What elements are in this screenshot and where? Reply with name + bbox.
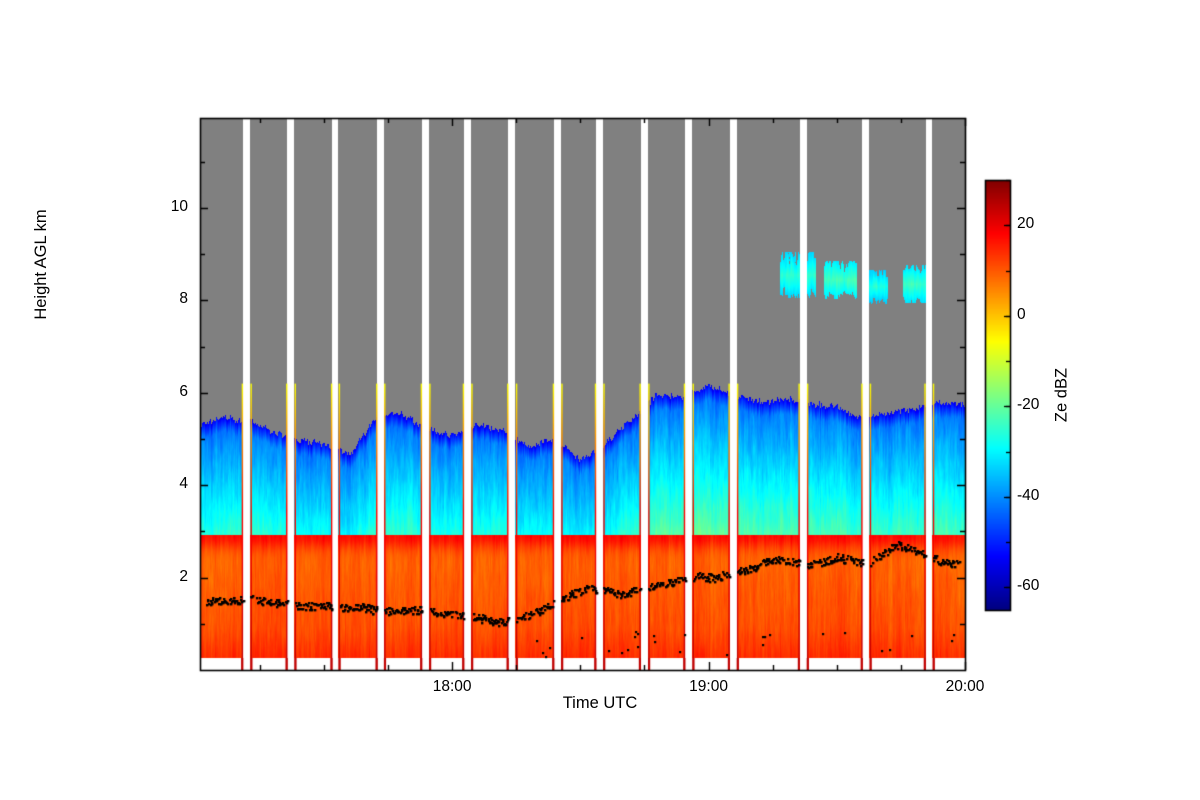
colorbar-tick-label: -40 — [1017, 487, 1067, 505]
x-axis-label: Time UTC — [0, 694, 1200, 713]
y-tick-label: 2 — [138, 568, 188, 586]
colorbar-tick-label: -60 — [1017, 577, 1067, 595]
x-tick-label: 19:00 — [669, 678, 749, 696]
x-tick-label: 20:00 — [925, 678, 1005, 696]
y-tick-label: 8 — [138, 290, 188, 308]
y-tick-label: 4 — [138, 475, 188, 493]
colorbar-tick-label: -20 — [1017, 396, 1067, 414]
colorbar-tick-label: 0 — [1017, 306, 1067, 324]
y-tick-label: 10 — [138, 198, 188, 216]
y-tick-label: 6 — [138, 383, 188, 401]
y-axis-label: Height AGL km — [32, 145, 51, 385]
x-tick-label: 18:00 — [412, 678, 492, 696]
colorbar-tick-label: 20 — [1017, 215, 1067, 233]
colorbar-label: Ze dBZ — [1053, 315, 1072, 475]
radar-plot-figure: Equivalent Radar Reflectivity Factor Ze … — [0, 0, 1200, 800]
